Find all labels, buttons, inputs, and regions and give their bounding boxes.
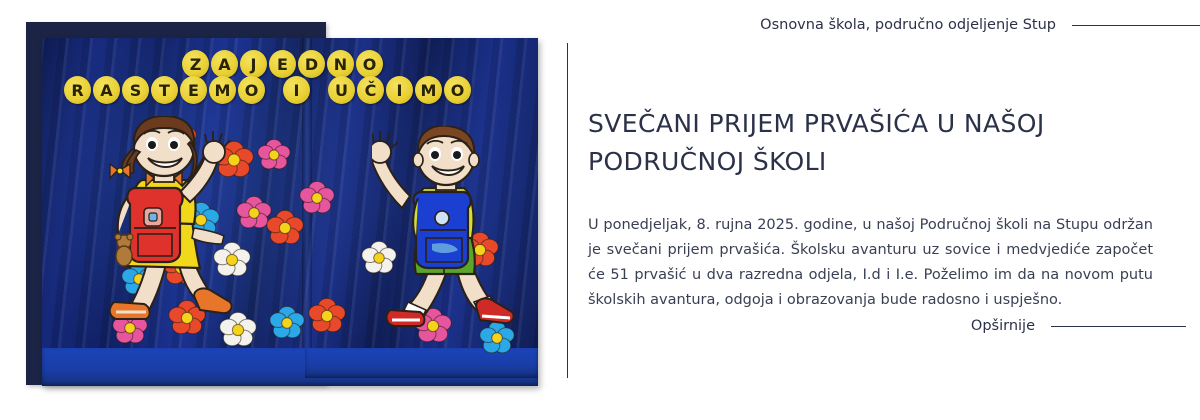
figure-girl [90,116,240,326]
column-divider [567,43,568,378]
article-kicker-row: Osnovna škola, područno odjeljenje Stup [588,17,1200,33]
flower-icon [267,210,303,243]
article-headline[interactable]: SVEČANI PRIJEM PRVAŠIĆA U NAŠOJ PODRUČNO… [588,105,1148,181]
article-text-column: Osnovna škola, područno odjeljenje Stup … [588,0,1200,420]
flower-icon [309,298,345,331]
read-more-row[interactable]: Opširnije [588,318,1186,334]
figure-boy [372,126,522,336]
article-photo[interactable]: Z A J E D N O R A S T E M O I [42,38,538,386]
flower-icon [258,139,290,169]
read-more-link[interactable]: Opširnije [971,318,1035,334]
flower-icon [270,306,304,338]
flower-icon [237,196,271,228]
article-media-column: Z A J E D N O R A S T E M O I [0,0,560,420]
article-body: U ponedjeljak, 8. rujna 2025. godine, u … [588,213,1153,313]
read-more-rule [1051,326,1186,327]
kicker-rule [1072,25,1200,26]
article-teaser-card: Z A J E D N O R A S T E M O I [0,0,1200,420]
article-kicker: Osnovna škola, područno odjeljenje Stup [760,17,1056,33]
flower-icon [300,181,334,213]
